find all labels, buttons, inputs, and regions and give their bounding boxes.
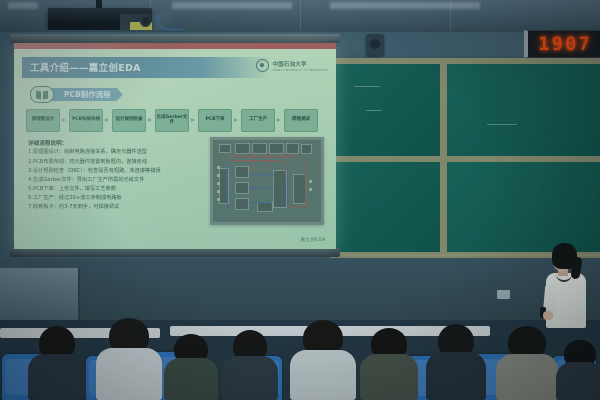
flow-step-label: PCB下单	[206, 118, 225, 123]
flow-arrow-icon	[234, 118, 239, 123]
logo-subtext: CHINA UNIVERSITY OF PETROLEUM	[272, 68, 328, 72]
flow-step: 工厂生产	[241, 109, 275, 132]
chalkboard-panel	[336, 162, 440, 252]
ceiling-projector	[48, 8, 152, 32]
flow-step: 生成Gerber文件	[155, 109, 189, 132]
student	[556, 340, 600, 400]
detail-list: 详细流程说明： 1.原理图设计：绘制电路连接关系，确定元器件选型 2.PCB布局…	[28, 139, 204, 214]
detail-item: 3.设计规则检查（DRC）：检查是否有短路、未连接等错误	[28, 169, 204, 175]
student-body	[360, 354, 418, 400]
flow-step: 原理图设计	[26, 109, 60, 132]
led-clock: 1907	[524, 30, 600, 58]
flow-arrow-icon	[191, 118, 196, 123]
pcb-layout-image	[210, 137, 324, 225]
flow-step-label: 工厂生产	[249, 118, 267, 123]
flow-arrow-icon	[62, 118, 67, 123]
presentation-slide: 工具介绍——嘉立创EDA 中国石油大学 CHINA UNIVERSITY OF …	[14, 43, 336, 249]
section-header-text: PCB制作流程	[64, 89, 111, 100]
flow-step-label: 焊接调试	[292, 118, 310, 123]
flow-arrow-icon	[148, 118, 153, 123]
process-flow-diagram: 原理图设计 PCB布局布线 设计规则检查 生成Gerber文件 PCB下单 工厂…	[26, 109, 326, 132]
flow-arrow-icon	[105, 118, 110, 123]
student-body	[426, 352, 486, 400]
logo-text: 中国石油大学	[272, 60, 328, 68]
slide-title: 工具介绍——嘉立创EDA	[30, 60, 141, 74]
flow-step-label: 生成Gerber文件	[156, 116, 188, 126]
student	[290, 320, 356, 400]
projection-screen-case	[10, 34, 340, 43]
student-body	[222, 356, 278, 400]
section-header-banner: PCB制作流程	[30, 87, 123, 102]
lecture-hall-photo: 1907 工具介绍——嘉立创EDA 中国石油大学 CHINA UNIVERSIT…	[0, 0, 600, 400]
projection-screen: 工具介绍——嘉立创EDA 中国石油大学 CHINA UNIVERSITY OF …	[14, 43, 336, 249]
university-logo: 中国石油大学 CHINA UNIVERSITY OF PETROLEUM	[256, 59, 328, 72]
flow-step-label: 原理图设计	[32, 118, 54, 123]
projector-lens	[140, 16, 151, 27]
logo-emblem-icon	[256, 59, 269, 72]
wall-speaker	[366, 34, 384, 56]
pcb-board	[213, 140, 321, 222]
projector-cable	[158, 17, 185, 30]
detail-item: 2.PCB布局布线：将元器件放置到板框内，连接走线	[28, 160, 204, 166]
detail-item: 6.工厂生产：经过20+道工序制成电路板	[28, 196, 204, 202]
clock-digits: 1907	[538, 33, 592, 55]
chalkboard-panel	[447, 64, 600, 156]
flow-step-label: PCB布局布线	[72, 118, 100, 123]
slide-footer: 嘉立创EDA	[300, 237, 326, 243]
detail-heading: 详细流程说明：	[28, 139, 204, 147]
student-body	[96, 348, 162, 400]
flow-step: PCB下单	[198, 109, 232, 132]
flow-arrow-icon	[277, 118, 282, 123]
detail-item: 7.收到板子：约3-7天到手，可焊接调试	[28, 205, 204, 211]
student-body	[28, 354, 86, 400]
flow-step: 设计规则检查	[112, 109, 146, 132]
flow-step: PCB布局布线	[69, 109, 103, 132]
student-body	[290, 350, 356, 400]
student	[28, 326, 86, 400]
screen-top-accent	[14, 43, 336, 49]
student-body	[496, 354, 558, 400]
chalkboard-panel	[447, 162, 600, 252]
student-body	[164, 358, 218, 400]
student	[360, 328, 418, 400]
flow-step-label: 设计规则检查	[116, 118, 143, 123]
student	[96, 318, 162, 400]
detail-item: 1.原理图设计：绘制电路连接关系，确定元器件选型	[28, 150, 204, 156]
wall-outlet	[497, 290, 510, 299]
student	[222, 330, 278, 400]
student	[164, 334, 218, 400]
student-body	[556, 362, 600, 400]
detail-item: 4.生成Gerber文件：导出工厂生产所需的光绘文件	[28, 178, 204, 184]
detail-item: 5.PCB下单：上传文件，填写工艺参数	[28, 187, 204, 193]
audience-area	[0, 300, 600, 400]
projection-screen-bottom-bar	[10, 248, 340, 257]
student	[496, 326, 558, 400]
student	[426, 324, 486, 400]
book-icon	[36, 91, 48, 99]
section-header-pill: PCB制作流程	[50, 88, 123, 101]
book-badge	[30, 86, 54, 103]
flow-step: 焊接调试	[284, 109, 318, 132]
chalkboard-panel	[336, 64, 440, 156]
